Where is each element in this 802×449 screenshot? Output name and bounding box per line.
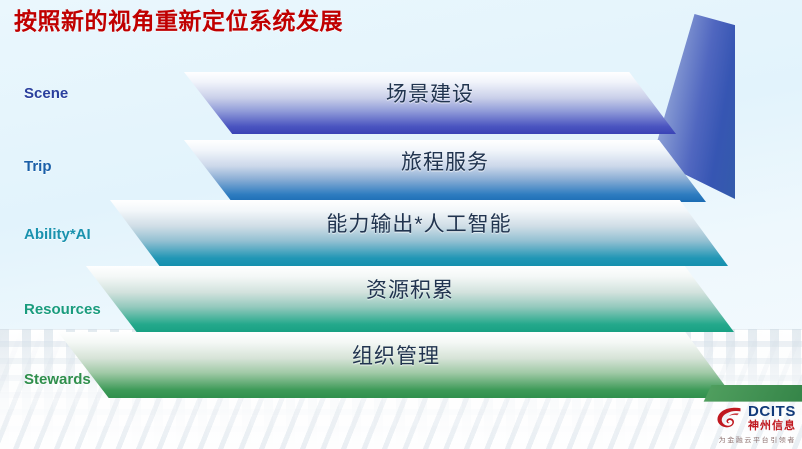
logo-brand-en: DCITS	[748, 404, 796, 419]
side-label-trip: Trip	[24, 158, 52, 175]
logo-wordmark: DCITS 神州信息	[748, 404, 796, 432]
logo-main-row: DCITS 神州信息	[716, 404, 796, 432]
side-label-resources: Resources	[24, 301, 101, 318]
logo-brand-cn: 神州信息	[748, 421, 796, 432]
layer-label-scene: 场景建设	[214, 78, 646, 108]
pyramid-layer-trip[interactable]: 旅程服务	[184, 140, 706, 202]
side-label-ability-ai: Ability*AI	[24, 226, 91, 243]
pyramid-layer-group: 场景建设 旅程服务 能力输出*人工智能 资源积累 组织管理	[0, 0, 802, 449]
layer-label-trip: 旅程服务	[214, 146, 676, 176]
pyramid-layer-resources[interactable]: 资源积累	[86, 266, 734, 332]
layer-label-resources: 资源积累	[126, 274, 694, 304]
logo-tagline: 为金融云平台引领者	[719, 435, 796, 444]
pyramid-layer-ability-ai[interactable]: 能力输出*人工智能	[110, 200, 728, 266]
side-label-scene: Scene	[24, 85, 68, 102]
layer-label-ability-ai: 能力输出*人工智能	[150, 208, 688, 238]
side-label-stewards: Stewards	[24, 371, 91, 388]
slide-canvas: 按照新的视角重新定位系统发展 场景建设 旅程服务 能力输出*人工智能 资源积累 …	[0, 0, 802, 449]
dcits-logo: DCITS 神州信息 为金融云平台引领者	[656, 397, 796, 445]
layer-label-stewards: 组织管理	[98, 340, 694, 370]
pyramid-layer-scene[interactable]: 场景建设	[184, 72, 676, 134]
dcits-swoosh-icon	[716, 406, 743, 430]
pyramid-layer-stewards[interactable]: 组织管理	[58, 332, 734, 398]
